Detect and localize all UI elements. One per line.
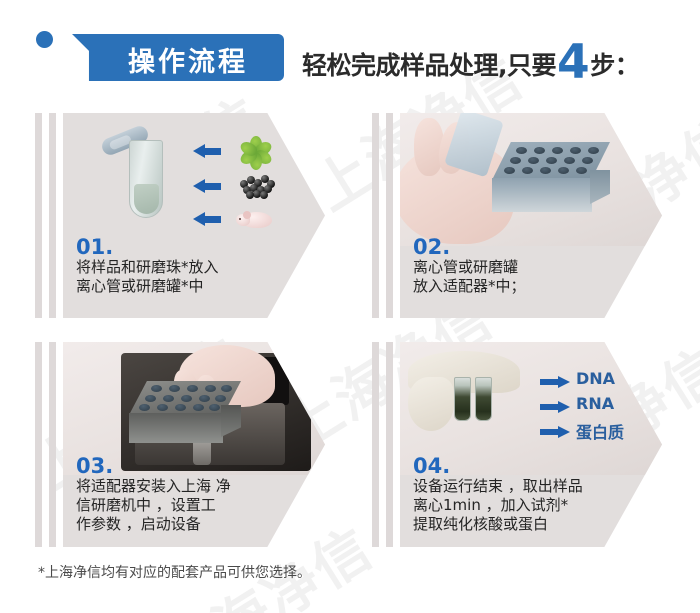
grinding-beads-icon [238,172,276,198]
step-card-1: 01. 将样品和研磨珠*放入 离心管或研磨罐*中 [32,108,325,323]
sample-vial-icon [454,377,471,421]
arrow-right-icon [540,401,570,413]
page-title-number: 4 [557,44,589,82]
step-line: 提取纯化核酸或蛋白 [413,515,653,534]
header-dot-icon [36,31,53,48]
step-1-text: 01. 将样品和研磨珠*放入 离心管或研磨罐*中 [76,236,291,296]
test-tube-icon [129,132,163,218]
product-label-dna: DNA [576,369,615,388]
adapter-block-icon [129,381,241,443]
adapter-block-icon [492,142,610,212]
product-label-rna: RNA [576,394,614,413]
arrow-left-icon [193,144,221,157]
leaf-icon [239,134,273,168]
card-body: 01. 将样品和研磨珠*放入 离心管或研磨罐*中 [63,108,325,323]
step-line: 设备运行结束 ，取出样品 [413,477,653,496]
product-label-protein: 蛋白质 [576,419,624,443]
footer-note: *上海净信均有对应的配套产品可供您选择。 [38,562,311,582]
arrow-left-icon [193,179,221,192]
mouse-sample-icon [236,206,276,230]
card-accent-bars [32,342,58,547]
step-4-text: 04. 设备运行结束 ，取出样品 离心1min ，加入试剂* 提取纯化核酸或蛋白 [413,455,653,535]
step-line: 离心1min ，加入试剂* [413,496,653,515]
page-title: 轻松完成样品处理,只要 4 步： [302,40,639,82]
page-title-prefix: 轻松完成样品处理,只要 [302,46,556,82]
step-card-4: DNA RNA 蛋白质 04. 设备运行结束 ，取出样品 离心1min ，加入试… [369,337,662,552]
header-banner-label: 操作流程 [100,40,276,79]
step-line: 离心管或研磨罐*中 [76,277,291,296]
card-body: 02. 离心管或研磨罐 放入适配器*中； [400,108,662,323]
arrow-left-icon [193,212,221,225]
step-line: 将样品和研磨珠*放入 [76,258,291,277]
card-accent-bars [32,113,58,318]
step-number: 01. [76,236,291,258]
step-card-2: 02. 离心管或研磨罐 放入适配器*中； [369,108,662,323]
step-2-photo [400,108,662,246]
step-2-text: 02. 离心管或研磨罐 放入适配器*中； [413,236,628,296]
glove-thumb-icon [408,377,454,431]
card-body: DNA RNA 蛋白质 04. 设备运行结束 ，取出样品 离心1min ，加入试… [400,337,662,552]
step-card-3: 03. 将适配器安装入上海 净 信研磨机中 ，设置工 作参数 ，启动设备 [32,337,325,552]
step-number: 03. [76,455,306,477]
card-body: 03. 将适配器安装入上海 净 信研磨机中 ，设置工 作参数 ，启动设备 [63,337,325,552]
step-line: 信研磨机中 ，设置工 [76,496,306,515]
step-number: 02. [413,236,628,258]
page-header: 操作流程 轻松完成样品处理,只要 4 步： [0,0,700,100]
card-accent-bars [369,113,395,318]
step-line: 将适配器安装入上海 净 [76,477,306,496]
step-line: 作参数 ，启动设备 [76,515,306,534]
step-line: 放入适配器*中； [413,277,628,296]
arrow-right-icon [540,426,570,438]
card-accent-bars [369,342,395,547]
step-line: 离心管或研磨罐 [413,258,628,277]
step-number: 04. [413,455,653,477]
arrow-right-icon [540,376,570,388]
sample-vial-icon [475,377,492,421]
page-title-suffix: 步： [590,46,639,82]
step-3-text: 03. 将适配器安装入上海 净 信研磨机中 ，设置工 作参数 ，启动设备 [76,455,306,535]
step-1-photo [63,108,325,246]
